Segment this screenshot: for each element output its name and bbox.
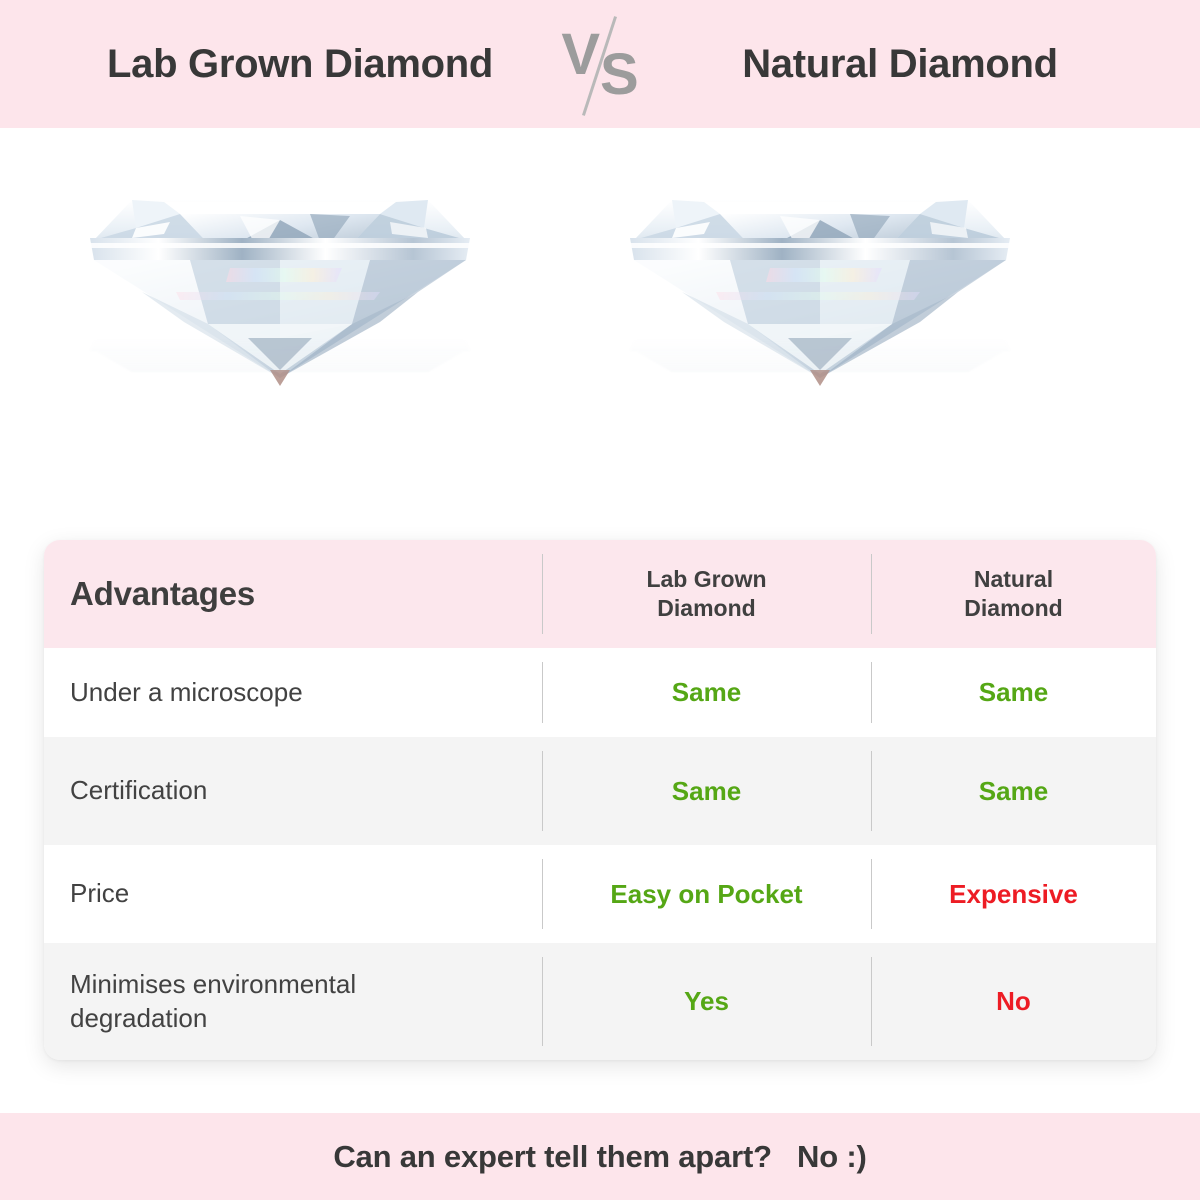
- table-header-row: Advantages Lab Grown Diamond Natural Dia…: [44, 540, 1156, 648]
- row-label-cell: Minimises environmental degradation: [44, 968, 542, 1036]
- table-row: Under a microscope Same Same: [44, 648, 1156, 737]
- header-bar: Lab Grown Diamond VS Natural Diamond: [0, 0, 1200, 128]
- table-row: Minimises environmental degradation Yes …: [44, 943, 1156, 1060]
- row-label-cell: Certification: [44, 774, 542, 808]
- header-label-advantages: Advantages: [70, 575, 255, 612]
- column-divider-2: [871, 662, 872, 723]
- row-value-natural-text: Expensive: [949, 879, 1078, 909]
- row-value-lab-grown-text: Easy on Pocket: [610, 879, 802, 909]
- row-value-natural-text: Same: [979, 776, 1048, 806]
- row-label-cell: Price: [44, 877, 542, 911]
- header-label-natural-line2: Diamond: [871, 594, 1156, 623]
- header-title-lab-grown: Lab Grown Diamond: [60, 42, 540, 87]
- row-label: Under a microscope: [70, 677, 303, 707]
- table-row: Certification Same Same: [44, 737, 1156, 845]
- lab-grown-diamond-slot: [40, 142, 520, 522]
- header-label-natural-line1: Natural: [871, 565, 1156, 594]
- row-value-lab-grown: Same: [542, 775, 871, 808]
- row-value-lab-grown: Yes: [542, 985, 871, 1018]
- row-value-natural: Expensive: [871, 878, 1156, 911]
- row-value-natural: Same: [871, 775, 1156, 808]
- footer-question: Can an expert tell them apart? No :): [333, 1139, 866, 1175]
- column-divider-1: [542, 957, 543, 1046]
- column-divider-2: [871, 957, 872, 1046]
- row-label: Certification: [70, 775, 207, 805]
- column-divider-1: [542, 751, 543, 831]
- row-value-natural-text: No: [996, 986, 1031, 1016]
- row-label-line2: degradation: [70, 1002, 542, 1036]
- header-cell-natural: Natural Diamond: [871, 565, 1156, 624]
- row-value-lab-grown-text: Same: [672, 776, 741, 806]
- header-label-lab-grown-line1: Lab Grown: [542, 565, 871, 594]
- header-cell-lab-grown: Lab Grown Diamond: [542, 565, 871, 624]
- row-value-lab-grown: Same: [542, 676, 871, 709]
- row-value-natural: No: [871, 985, 1156, 1018]
- row-value-lab-grown-text: Yes: [684, 986, 729, 1016]
- column-divider-1: [542, 859, 543, 929]
- versus-badge: VS: [540, 4, 660, 124]
- versus-letter-s: S: [600, 46, 639, 104]
- row-label-cell: Under a microscope: [44, 676, 542, 710]
- row-value-lab-grown-text: Same: [672, 677, 741, 707]
- lab-grown-diamond-reflection: [80, 338, 480, 404]
- row-label: Price: [70, 878, 129, 908]
- table-row: Price Easy on Pocket Expensive: [44, 845, 1156, 943]
- row-value-lab-grown: Easy on Pocket: [542, 878, 871, 911]
- natural-diamond-reflection: [620, 338, 1020, 404]
- footer-bar: Can an expert tell them apart? No :): [0, 1113, 1200, 1200]
- row-label-line1: Minimises environmental: [70, 968, 542, 1002]
- diamond-images-area: [0, 128, 1200, 528]
- header-label-lab-grown-line2: Diamond: [542, 594, 871, 623]
- column-divider-1: [542, 554, 543, 634]
- header-cell-advantages: Advantages: [44, 575, 542, 613]
- column-divider-2: [871, 751, 872, 831]
- comparison-infographic: Lab Grown Diamond VS Natural Diamond: [0, 0, 1200, 1200]
- column-divider-2: [871, 859, 872, 929]
- column-divider-2: [871, 554, 872, 634]
- header-title-natural: Natural Diamond: [660, 42, 1140, 87]
- natural-diamond-slot: [580, 142, 1060, 522]
- row-value-natural-text: Same: [979, 677, 1048, 707]
- comparison-table: Advantages Lab Grown Diamond Natural Dia…: [44, 540, 1156, 1060]
- row-value-natural: Same: [871, 676, 1156, 709]
- column-divider-1: [542, 662, 543, 723]
